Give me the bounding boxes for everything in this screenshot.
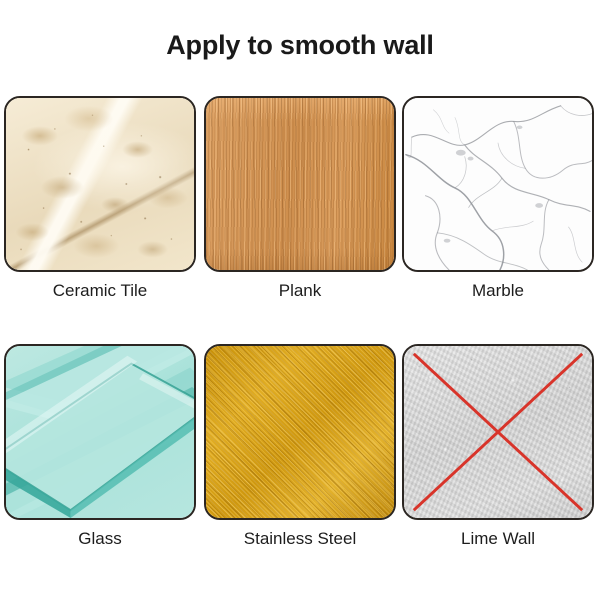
ceramic-tile-speckles: [6, 98, 194, 270]
surface-grid: Ceramic Tile Plank: [0, 96, 600, 592]
stainless-steel-texture: [206, 346, 394, 518]
glass-texture: [6, 346, 194, 518]
surface-label-stainless-steel: Stainless Steel: [204, 528, 396, 550]
surface-label-plank: Plank: [204, 280, 396, 302]
surface-row: Ceramic Tile Plank: [0, 96, 600, 344]
plank-texture: [206, 98, 394, 270]
surface-swatch-glass: [4, 344, 196, 520]
page-title: Apply to smooth wall: [0, 30, 600, 60]
ceramic-tile-texture: [6, 98, 194, 270]
surface-swatch-marble: [402, 96, 594, 272]
marble-texture: [404, 98, 592, 270]
surface-cell-lime-wall[interactable]: Lime Wall: [402, 344, 594, 550]
surface-cell-plank[interactable]: Plank: [204, 96, 396, 302]
surface-cell-ceramic-tile[interactable]: Ceramic Tile: [4, 96, 196, 302]
surface-swatch-stainless-steel: [204, 344, 396, 520]
surface-cell-stainless-steel[interactable]: Stainless Steel: [204, 344, 396, 550]
surface-swatch-plank: [204, 96, 396, 272]
surface-cell-marble[interactable]: Marble: [402, 96, 594, 302]
surface-label-ceramic-tile: Ceramic Tile: [4, 280, 196, 302]
surface-label-lime-wall: Lime Wall: [402, 528, 594, 550]
surface-label-glass: Glass: [4, 528, 196, 550]
surface-label-marble: Marble: [402, 280, 594, 302]
surface-swatch-ceramic-tile: [4, 96, 196, 272]
surface-cell-glass[interactable]: Glass: [4, 344, 196, 550]
surface-swatch-lime-wall: [402, 344, 594, 520]
cross-out-icon: [404, 346, 592, 518]
surface-row: Glass Stainless Steel Lime Wall: [0, 344, 600, 592]
